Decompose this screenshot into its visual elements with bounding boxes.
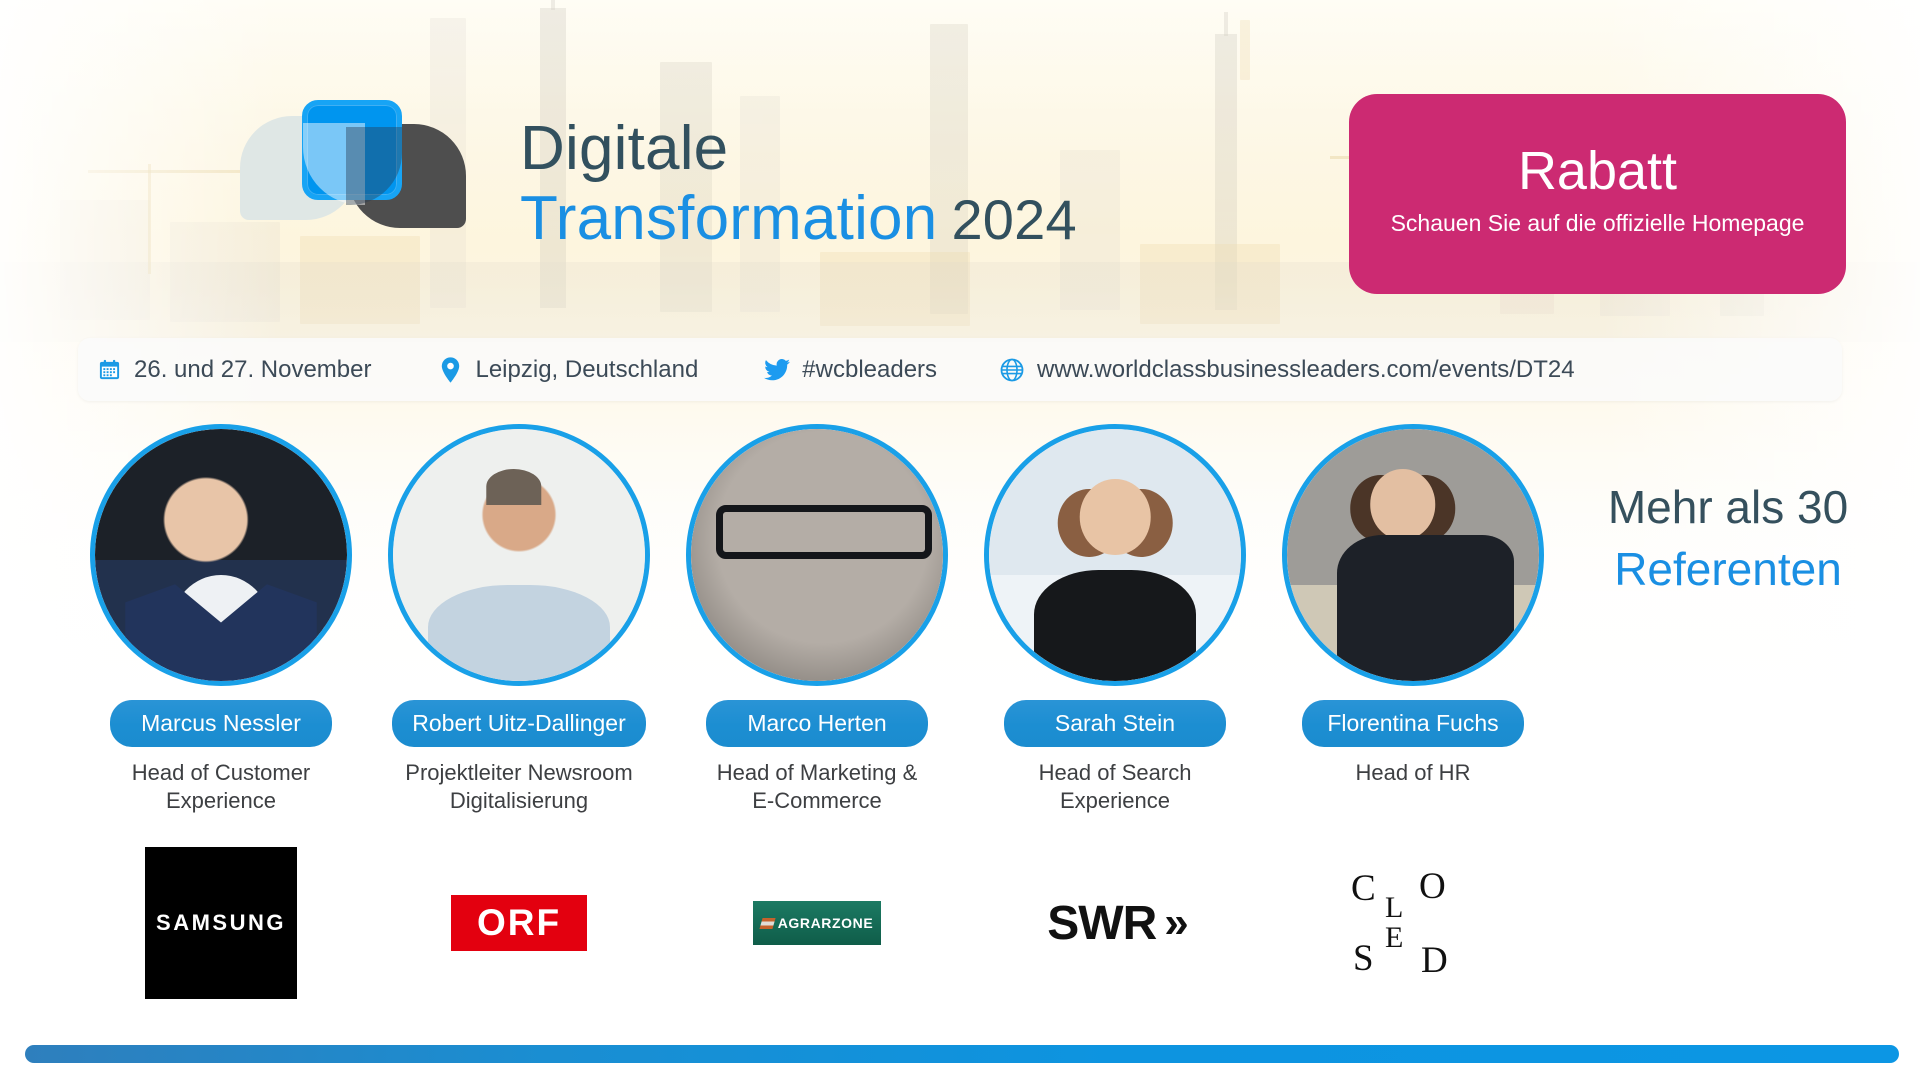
bottom-accent-bar	[25, 1045, 1899, 1063]
event-title-line1: Digitale	[520, 118, 1077, 180]
company-logo-cell: SAMSUNG	[72, 848, 370, 998]
orf-logo-text: ORF	[477, 902, 561, 944]
more-speakers-line1: Mehr als 30	[1578, 480, 1878, 534]
speaker-name: Robert Uitz-Dallinger	[392, 700, 645, 747]
closed-letter-c: C	[1351, 867, 1376, 910]
discount-badge-subtitle: Schauen Sie auf die offizielle Homepage	[1391, 210, 1805, 237]
speaker-role: Projektleiter Newsroom Digitalisierung	[405, 759, 632, 815]
closed-letter-s: S	[1353, 937, 1374, 980]
more-speakers-line2: Referenten	[1578, 542, 1878, 596]
event-website[interactable]: www.worldclassbusinessleaders.com/events…	[999, 356, 1575, 384]
closed-letter-e: E	[1385, 921, 1403, 955]
speaker-name: Florentina Fuchs	[1302, 700, 1524, 747]
twitter-icon	[764, 359, 790, 381]
company-logo-cell: SWR »	[966, 848, 1264, 998]
event-info-bar: 26. und 27. November Leipzig, Deutschlan…	[78, 338, 1842, 401]
more-speakers-note: Mehr als 30 Referenten	[1578, 480, 1878, 597]
event-website-text: www.worldclassbusinessleaders.com/events…	[1037, 356, 1575, 384]
company-logo-cell: ORF	[370, 848, 668, 998]
double-chevron-icon: »	[1164, 901, 1182, 945]
globe-icon	[999, 358, 1025, 382]
orf-logo: ORF	[451, 895, 587, 951]
speaker-name: Marcus Nessler	[110, 700, 332, 747]
event-hashtag[interactable]: #wcbleaders	[764, 356, 937, 384]
speech-bubbles-logo	[240, 100, 470, 220]
event-hashtag-text: #wcbleaders	[802, 356, 937, 384]
avatar	[388, 424, 650, 686]
samsung-logo: SAMSUNG	[145, 847, 297, 999]
swr-logo: SWR »	[1047, 896, 1182, 951]
avatar	[686, 424, 948, 686]
speaker-role: Head of HR	[1356, 759, 1471, 787]
avatar	[1282, 424, 1544, 686]
speaker-photo	[989, 429, 1241, 681]
speaker-name: Sarah Stein	[1004, 700, 1226, 747]
samsung-logo-text: SAMSUNG	[156, 910, 286, 936]
speaker-photo	[691, 429, 943, 681]
speaker-role: Head of Customer Experience	[132, 759, 311, 815]
closed-logo: C L O E S D	[1349, 865, 1477, 981]
agrarzone-logo-text: AGRARZONE	[778, 915, 874, 931]
event-date: 26. und 27. November	[96, 356, 371, 384]
agrarzone-mark-icon	[759, 918, 775, 929]
event-year: 2024	[951, 188, 1076, 251]
event-title: Digitale Transformation2024	[520, 118, 1077, 250]
company-logo-cell: AGRARZONE	[668, 848, 966, 998]
event-banner: Digitale Transformation2024 Rabatt Schau…	[0, 0, 1920, 1080]
speaker-card[interactable]: Robert Uitz-Dallinger Projektleiter News…	[370, 424, 668, 815]
speaker-role: Head of Search Experience	[1039, 759, 1192, 815]
event-location: Leipzig, Deutschland	[437, 356, 698, 384]
avatar	[984, 424, 1246, 686]
company-logo-list: SAMSUNG ORF AGRARZONE SWR » C L O	[72, 848, 1562, 998]
speaker-list: Marcus Nessler Head of Customer Experien…	[72, 424, 1562, 815]
speaker-card[interactable]: Marco Herten Head of Marketing & E-Comme…	[668, 424, 966, 815]
avatar	[90, 424, 352, 686]
closed-letter-l: L	[1385, 891, 1403, 925]
event-title-line2: Transformation	[520, 184, 937, 253]
calendar-icon	[96, 358, 122, 381]
closed-letter-o: O	[1419, 865, 1446, 908]
map-pin-icon	[437, 357, 463, 383]
logo-blue-square	[302, 100, 402, 200]
speaker-photo	[393, 429, 645, 681]
speaker-card[interactable]: Florentina Fuchs Head of HR	[1264, 424, 1562, 815]
discount-badge[interactable]: Rabatt Schauen Sie auf die offizielle Ho…	[1349, 94, 1846, 294]
logo-square-dark-shape	[346, 127, 402, 205]
closed-letter-d: D	[1421, 939, 1448, 982]
swr-logo-text: SWR	[1047, 896, 1156, 951]
discount-badge-title: Rabatt	[1518, 143, 1677, 200]
speaker-photo	[95, 429, 347, 681]
speaker-role: Head of Marketing & E-Commerce	[717, 759, 918, 815]
speaker-card[interactable]: Sarah Stein Head of Search Experience	[966, 424, 1264, 815]
speaker-photo	[1287, 429, 1539, 681]
event-location-text: Leipzig, Deutschland	[475, 356, 698, 384]
agrarzone-logo: AGRARZONE	[753, 901, 881, 945]
speaker-name: Marco Herten	[706, 700, 928, 747]
event-date-text: 26. und 27. November	[134, 356, 371, 384]
speaker-card[interactable]: Marcus Nessler Head of Customer Experien…	[72, 424, 370, 815]
company-logo-cell: C L O E S D	[1264, 848, 1562, 998]
